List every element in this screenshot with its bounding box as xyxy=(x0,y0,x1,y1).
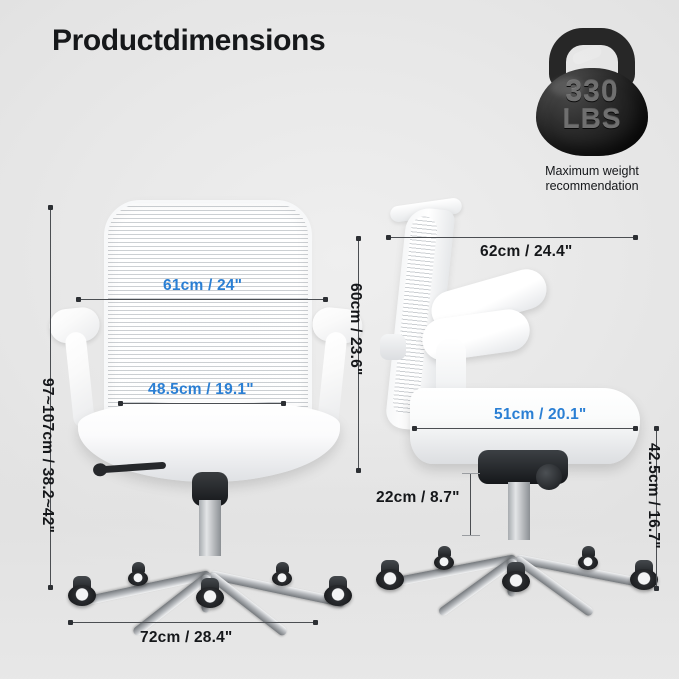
caster-wheel xyxy=(578,546,598,568)
product-dimensions-infographic: Productdimensions 330 LBS Maximum weight… xyxy=(0,0,679,679)
dim-seat-width: 48.5cm / 19.1" xyxy=(148,381,254,399)
caster-wheel xyxy=(376,560,404,590)
office-chair-front-view xyxy=(60,200,360,630)
dimline-tick xyxy=(462,473,480,474)
five-star-base-front xyxy=(68,548,352,602)
caster-wheel-disc xyxy=(502,571,530,592)
dimline-endpoint xyxy=(281,401,286,406)
dim-base-width: 72cm / 28.4" xyxy=(140,629,232,647)
dimline-endpoint xyxy=(323,297,328,302)
dimline-seat-width xyxy=(120,403,284,404)
dimline-endpoint xyxy=(68,620,73,625)
kettlebell-body xyxy=(536,68,648,156)
dimline-endpoint xyxy=(654,586,659,591)
caster-wheel xyxy=(502,562,530,592)
tension-knob xyxy=(536,464,562,490)
dimline-endpoint xyxy=(313,620,318,625)
dimline-endpoint xyxy=(633,235,638,240)
max-weight-caption-line2: recommendation xyxy=(522,179,662,194)
dimline-endpoint xyxy=(48,585,53,590)
dimline-endpoint xyxy=(412,426,417,431)
caster-wheel xyxy=(196,578,224,608)
caster-wheel-disc xyxy=(272,571,292,586)
caster-wheel xyxy=(434,546,454,568)
max-weight-caption: Maximum weight recommendation xyxy=(522,164,662,194)
dimline-endpoint xyxy=(76,297,81,302)
page-title: Productdimensions xyxy=(52,24,325,58)
five-star-base-side xyxy=(376,532,658,586)
caster-wheel xyxy=(128,562,148,584)
dimline-endpoint xyxy=(356,236,361,241)
dimline-overall-depth xyxy=(388,237,636,238)
dimline-backrest-width xyxy=(78,299,326,300)
dim-backrest-width: 61cm / 24" xyxy=(163,277,242,295)
dim-seat-height: 42.5cm / 16.7" xyxy=(644,443,662,549)
caster-wheel-disc xyxy=(196,587,224,608)
kettlebell-icon: 330 LBS xyxy=(532,28,652,156)
caster-wheel xyxy=(272,562,292,584)
caster-wheel-disc xyxy=(376,569,404,590)
dimline-endpoint xyxy=(386,235,391,240)
dimline-tick xyxy=(462,535,480,536)
caster-wheel-disc xyxy=(324,585,352,606)
dim-base-to-seat-gap: 22cm / 8.7" xyxy=(376,489,460,507)
caster-wheel-disc xyxy=(128,571,148,586)
dim-overall-height: 97~107cm / 38.2~42" xyxy=(38,378,56,533)
dimline-endpoint xyxy=(654,426,659,431)
dimline-endpoint xyxy=(48,205,53,210)
caster-wheel-disc xyxy=(434,555,454,570)
lumbar-support-knob xyxy=(380,334,406,360)
dim-overall-depth: 62cm / 24.4" xyxy=(480,243,572,261)
caster-wheel-disc xyxy=(578,555,598,570)
max-weight-badge: 330 LBS Maximum weight recommendation xyxy=(522,28,662,194)
dimline-endpoint xyxy=(118,401,123,406)
max-weight-caption-line1: Maximum weight xyxy=(522,164,662,179)
dim-backrest-height: 60cm / 23.6" xyxy=(346,283,364,375)
dim-seat-depth: 51cm / 20.1" xyxy=(494,406,586,424)
dimline-base-to-seat-gap xyxy=(470,473,471,535)
dimline-endpoint xyxy=(356,468,361,473)
caster-wheel xyxy=(68,576,96,606)
caster-wheel-disc xyxy=(68,585,96,606)
dimline-base-width xyxy=(70,622,316,623)
caster-wheel xyxy=(324,576,352,606)
dimline-seat-depth xyxy=(414,428,636,429)
dimline-endpoint xyxy=(633,426,638,431)
